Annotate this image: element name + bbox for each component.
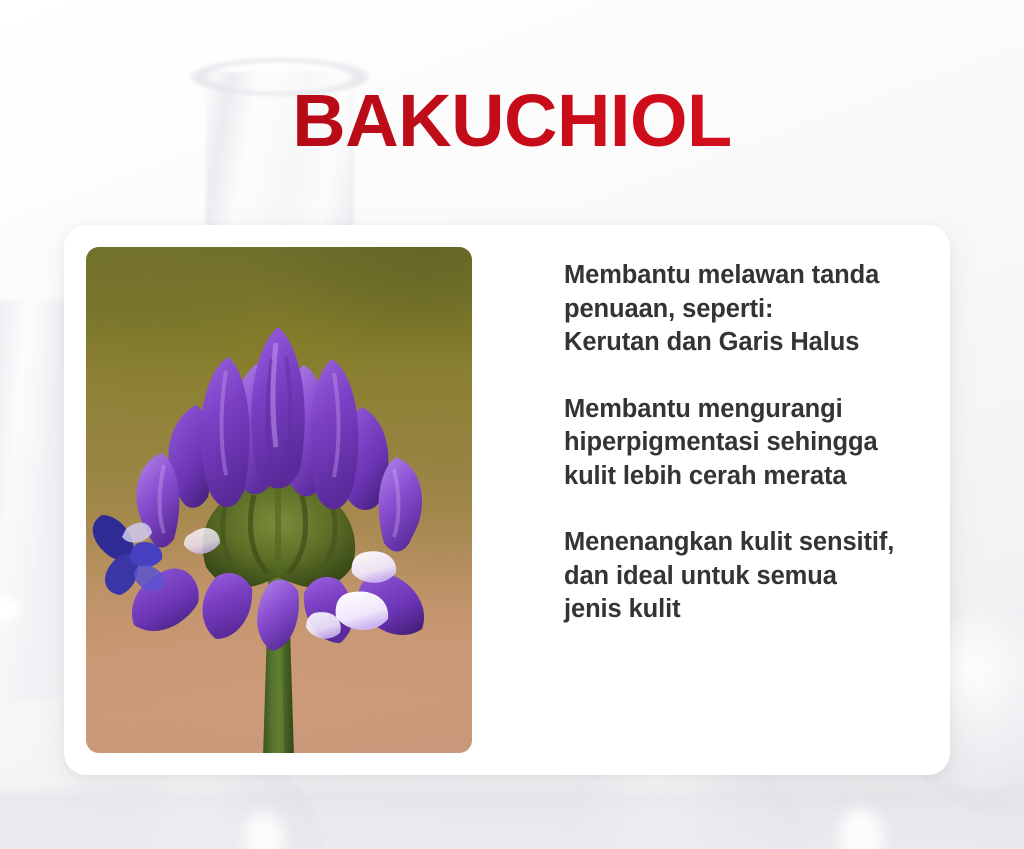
benefit-hyperpigmentation: Membantu mengurangi hiperpigmentasi sehi… bbox=[564, 393, 928, 494]
benefit-line: hiperpigmentasi sehingga bbox=[564, 426, 928, 460]
content-card: Membantu melawan tanda penuaan, seperti:… bbox=[64, 225, 950, 775]
benefit-line: Kerutan dan Garis Halus bbox=[564, 326, 928, 360]
infographic-page: BAKUCHIOL bbox=[0, 0, 1024, 849]
bakuchiol-flower-photo bbox=[86, 247, 472, 753]
benefit-line: penuaan, seperti: bbox=[564, 293, 928, 327]
benefit-sensitive-skin: Menenangkan kulit sensitif, dan ideal un… bbox=[564, 526, 928, 627]
benefit-line: Membantu melawan tanda bbox=[564, 259, 928, 293]
page-title: BAKUCHIOL bbox=[0, 84, 1024, 158]
benefit-line: dan ideal untuk semua bbox=[564, 560, 928, 594]
benefit-line: jenis kulit bbox=[564, 593, 928, 627]
benefit-line: Menenangkan kulit sensitif, bbox=[564, 526, 928, 560]
benefit-line: kulit lebih cerah merata bbox=[564, 460, 928, 494]
benefit-line: Membantu mengurangi bbox=[564, 393, 928, 427]
benefit-anti-aging: Membantu melawan tanda penuaan, seperti:… bbox=[564, 259, 928, 360]
benefits-list: Membantu melawan tanda penuaan, seperti:… bbox=[472, 247, 928, 627]
flower-illustration bbox=[86, 247, 472, 753]
